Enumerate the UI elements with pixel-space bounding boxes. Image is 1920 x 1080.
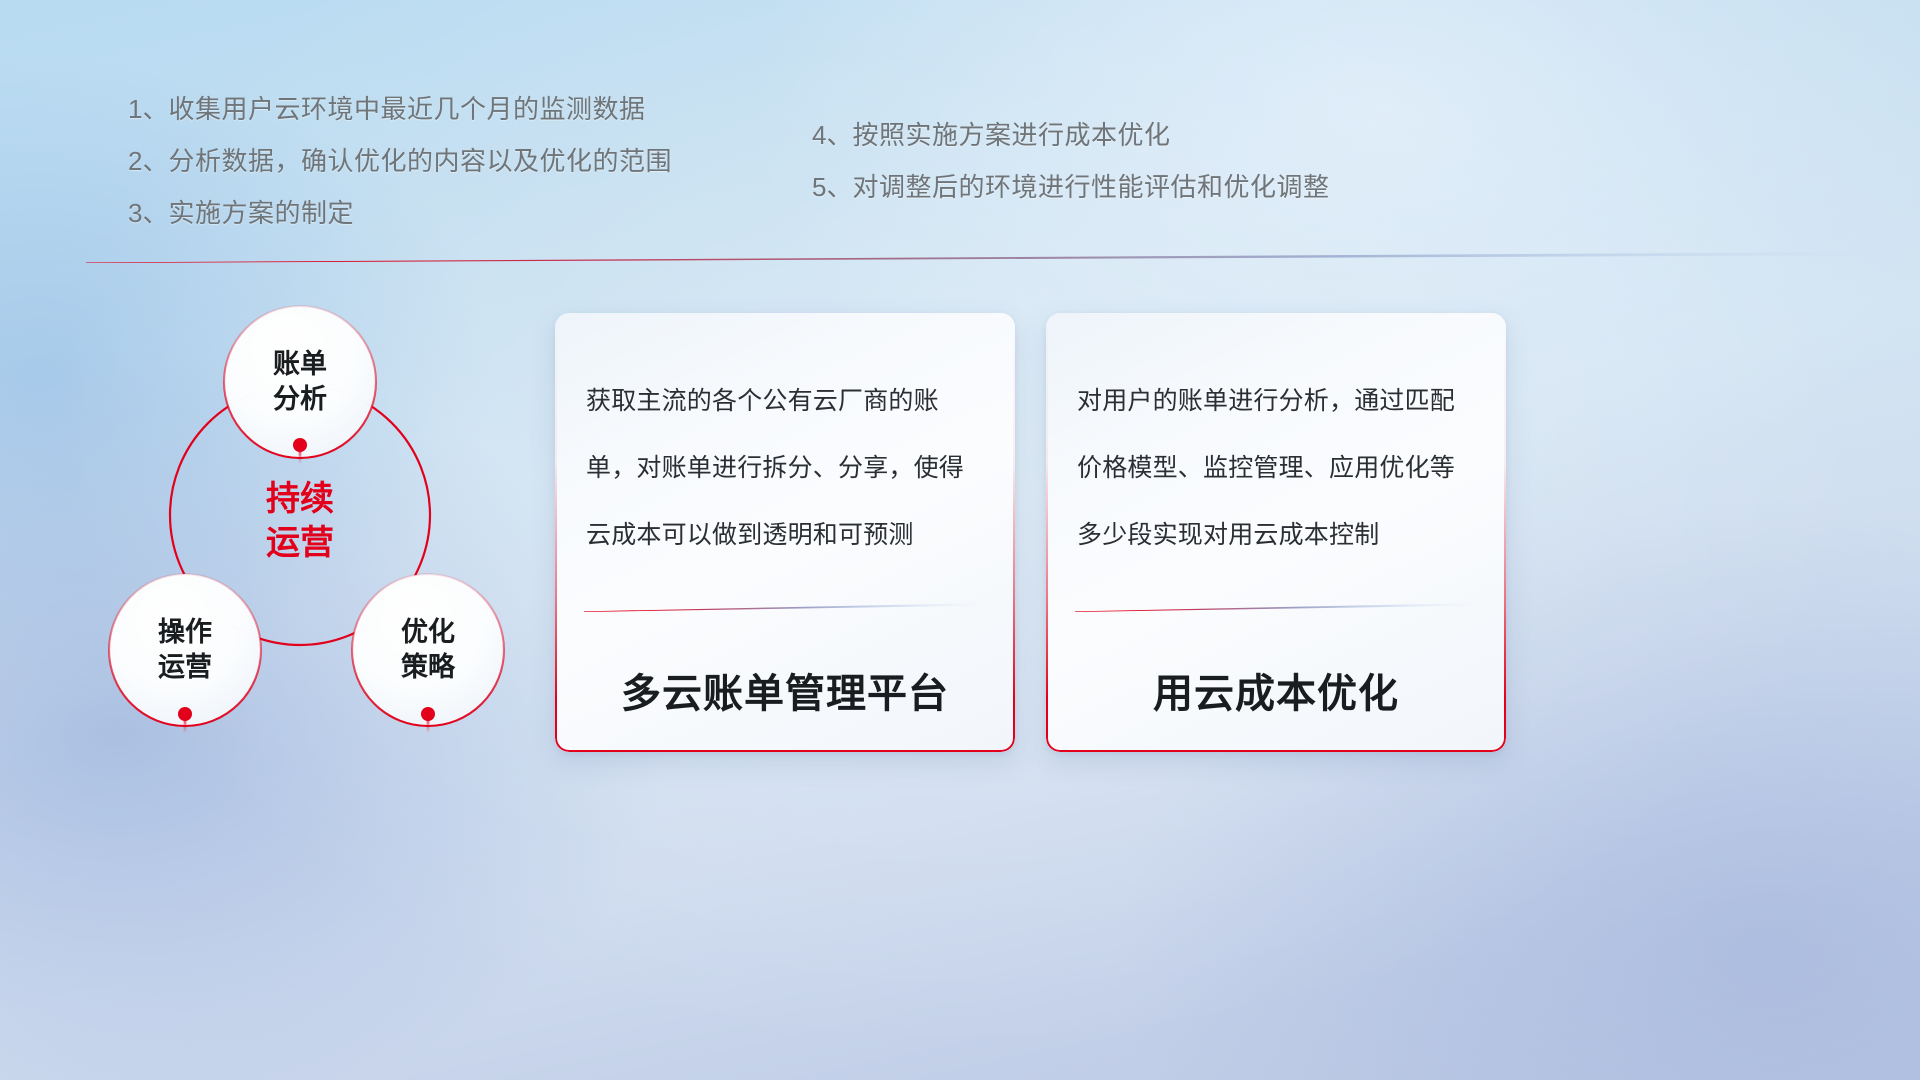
section-divider-shape	[86, 252, 1872, 263]
node-label-line2: 策略	[401, 651, 456, 682]
steps-list-left: 1、收集用户云环境中最近几个月的监测数据 2、分析数据，确认优化的内容以及优化的…	[128, 96, 672, 252]
node-label-line2: 运营	[158, 652, 212, 682]
card-divider-shape	[584, 603, 984, 612]
node-label-line1: 优化	[401, 617, 455, 647]
section-divider	[86, 252, 1872, 263]
card-title: 用云成本优化	[1046, 661, 1506, 719]
info-card-cloud-cost-optimization[interactable]: 对用户的账单进行分析，通过匹配价格模型、监控管理、应用优化等多少段实现对用云成本…	[1046, 313, 1506, 752]
card-description: 对用户的账单进行分析，通过匹配价格模型、监控管理、应用优化等多少段实现对用云成本…	[1077, 368, 1475, 569]
card-title: 多云账单管理平台	[555, 661, 1015, 719]
card-divider	[1075, 603, 1475, 612]
list-item: 4、按照实施方案进行成本优化	[812, 122, 1329, 148]
list-item: 1、收集用户云环境中最近几个月的监测数据	[128, 96, 672, 122]
step-number: 3、	[128, 198, 168, 228]
node-label-line1: 账单	[273, 349, 327, 379]
steps-list-right: 4、按照实施方案进行成本优化 5、对调整后的环境进行性能评估和优化调整	[812, 122, 1329, 226]
step-number: 2、	[128, 146, 168, 176]
step-text: 实施方案的制定	[168, 198, 354, 228]
info-card-multi-cloud-billing[interactable]: 获取主流的各个公有云厂商的账单，对账单进行拆分、分享，使得云成本可以做到透明和可…	[555, 313, 1015, 752]
diagram-node-billing-analysis[interactable]: 账单 分析	[224, 306, 376, 464]
list-item: 3、实施方案的制定	[128, 200, 672, 226]
list-item: 5、对调整后的环境进行性能评估和优化调整	[812, 174, 1329, 200]
step-number: 1、	[128, 94, 168, 124]
step-number: 4、	[812, 120, 852, 150]
node-tail	[427, 717, 430, 733]
diagram-node-operations[interactable]: 操作 运营	[109, 574, 261, 733]
continuous-operation-diagram: 账单 分析 操作 运营 优化 策略 持续 运营	[78, 278, 598, 778]
step-text: 分析数据，确认优化的内容以及优化的范围	[168, 146, 672, 176]
slide-canvas: 1、收集用户云环境中最近几个月的监测数据 2、分析数据，确认优化的内容以及优化的…	[0, 0, 1920, 1080]
node-bubble	[224, 306, 376, 458]
step-text: 对调整后的环境进行性能评估和优化调整	[852, 172, 1329, 202]
node-bubble	[109, 574, 261, 726]
diagram-svg: 账单 分析 操作 运营 优化 策略 持续 运营	[78, 278, 598, 778]
step-text: 收集用户云环境中最近几个月的监测数据	[168, 94, 645, 124]
center-label-line1: 持续	[266, 480, 334, 518]
step-number: 5、	[812, 172, 852, 202]
step-text: 按照实施方案进行成本优化	[852, 120, 1170, 150]
list-item: 2、分析数据，确认优化的内容以及优化的范围	[128, 148, 672, 174]
diagram-node-optimization-strategy[interactable]: 优化 策略	[352, 574, 504, 733]
node-bubble	[352, 574, 504, 726]
card-divider	[584, 603, 984, 612]
node-label-line1: 操作	[158, 617, 212, 647]
node-tail	[184, 717, 187, 733]
node-label-line2: 分析	[273, 384, 327, 414]
node-tail	[299, 448, 302, 464]
card-description: 获取主流的各个公有云厂商的账单，对账单进行拆分、分享，使得云成本可以做到透明和可…	[586, 368, 984, 569]
center-label-line2: 运营	[266, 524, 334, 562]
card-divider-shape	[1075, 603, 1475, 612]
